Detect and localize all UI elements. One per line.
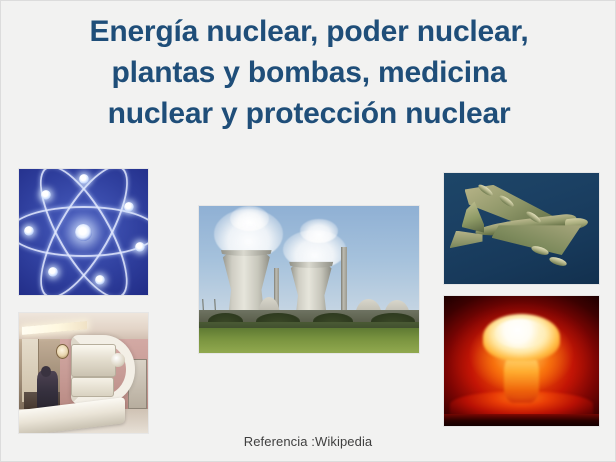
technician-head	[41, 366, 51, 377]
image-atom-diagram	[18, 168, 149, 296]
steam-plume	[300, 219, 337, 243]
scanner-detector-head-2	[71, 377, 114, 397]
aircraft-body-group	[447, 177, 597, 281]
mushroom-cloud-cap-core	[495, 319, 545, 348]
reference-caption: Referencia :Wikipedia	[1, 434, 615, 449]
image-nuclear-medicine-room	[18, 312, 149, 434]
atom-nucleus	[75, 224, 92, 241]
title-line-3: nuclear y protección nuclear	[29, 93, 589, 134]
steam-plume	[230, 206, 270, 231]
atom-electron	[135, 242, 145, 252]
explosion-ground-line	[444, 414, 599, 426]
atom-electron	[48, 267, 58, 277]
atom-illustration	[19, 169, 148, 295]
scanner-knob	[111, 353, 125, 367]
scanner-detector-head	[71, 344, 117, 377]
image-b52-bomber-aircraft	[443, 172, 600, 285]
explosion-illustration	[444, 296, 599, 426]
medical-room-illustration	[19, 313, 148, 433]
slide-canvas: Energía nuclear, poder nuclear, plantas …	[0, 0, 616, 462]
page-title: Energía nuclear, poder nuclear, plantas …	[29, 11, 589, 134]
atom-electron	[24, 226, 34, 236]
atom-electron	[124, 202, 134, 212]
green-field	[199, 328, 419, 353]
title-line-2: plantas y bombas, medicina	[29, 52, 589, 93]
aircraft-engine-pod	[548, 255, 567, 267]
bomber-illustration	[444, 173, 599, 284]
title-line-1: Energía nuclear, poder nuclear,	[29, 11, 589, 52]
power-plant-illustration	[199, 206, 419, 353]
image-nuclear-power-plant	[198, 205, 420, 354]
image-nuclear-explosion-mushroom-cloud	[443, 295, 600, 427]
atom-electron	[79, 174, 89, 184]
